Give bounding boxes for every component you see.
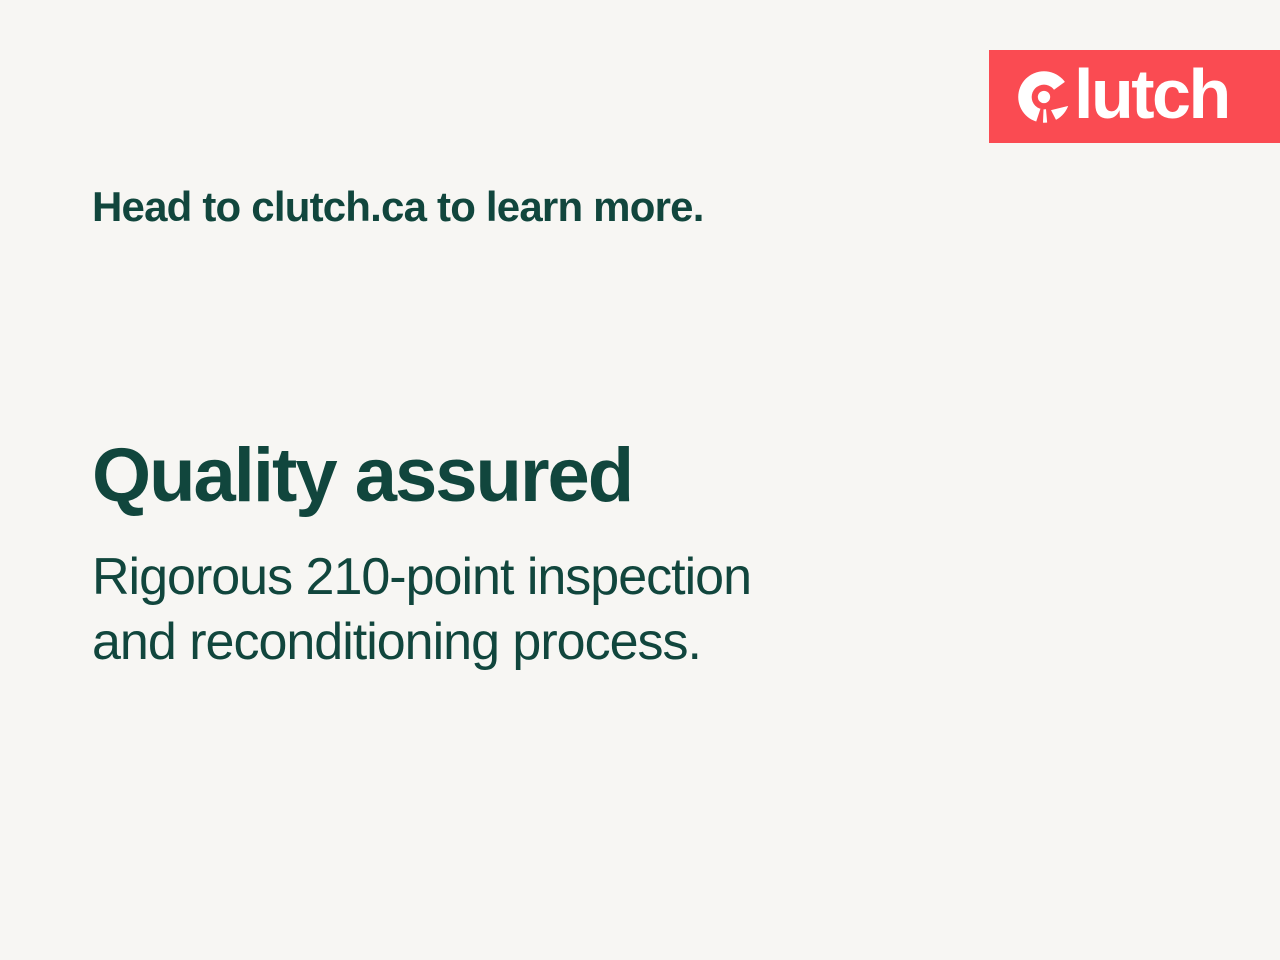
clutch-wordmark: lutch <box>1074 59 1229 129</box>
lede-text: Head to clutch.ca to learn more. <box>92 183 704 231</box>
page-title: Quality assured <box>92 438 632 514</box>
subhead-text: Rigorous 210-point inspection and recond… <box>92 545 751 675</box>
clutch-c-mark-icon <box>1016 69 1072 125</box>
subhead-line-2: and reconditioning process. <box>92 610 751 675</box>
clutch-logo[interactable]: lutch <box>1016 50 1229 143</box>
brand-banner: lutch <box>989 50 1280 143</box>
subhead-line-1: Rigorous 210-point inspection <box>92 545 751 610</box>
